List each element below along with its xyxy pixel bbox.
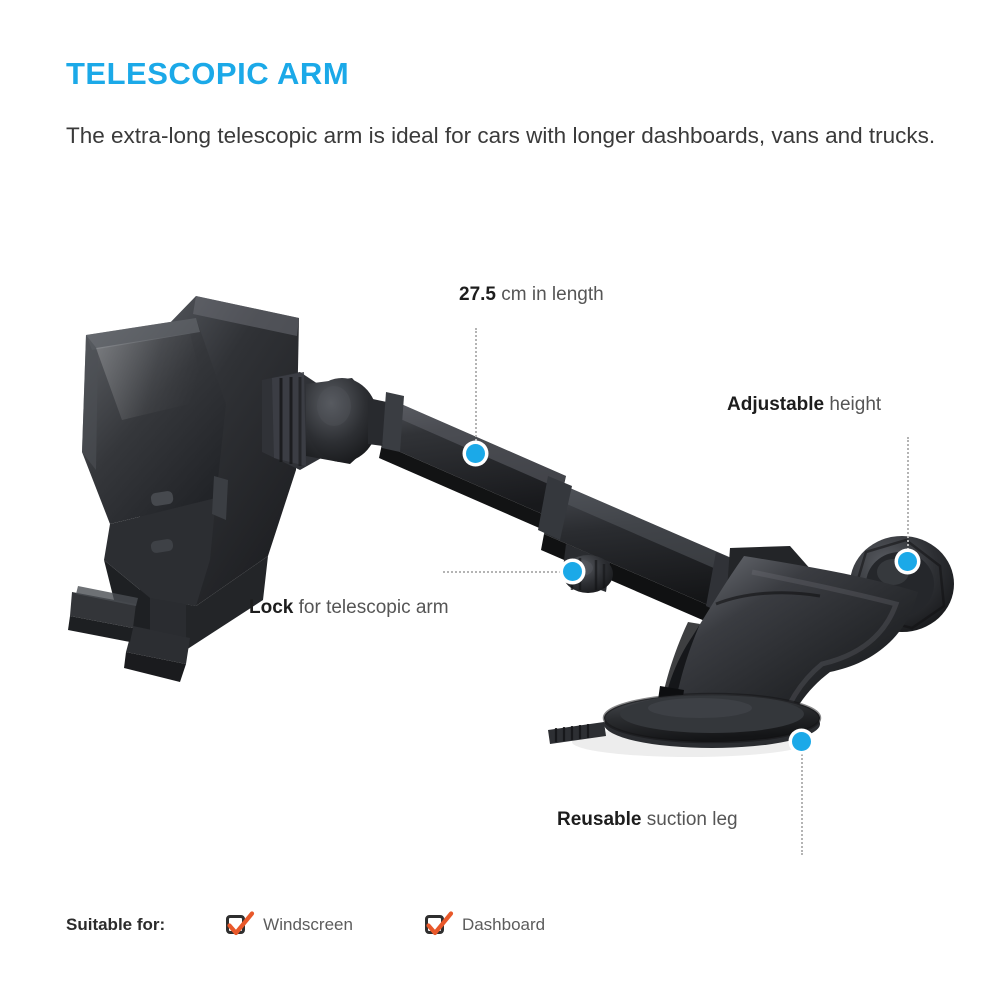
callout-label-lock: Lock for telescopic arm: [249, 598, 449, 617]
leader-line-suction: [801, 751, 803, 855]
marker-dot-suction: [792, 732, 811, 751]
checkbox-checked-icon[interactable]: [226, 912, 252, 938]
telescopic-arm: [379, 392, 744, 628]
marker-dot-height: [898, 552, 917, 571]
suitable-item-dashboard[interactable]: Dashboard: [425, 912, 545, 938]
marker-dot-length: [466, 444, 485, 463]
callout-height-rest: height: [824, 394, 881, 415]
checkbox-checked-icon[interactable]: [425, 912, 451, 938]
suction-cup-base: [548, 694, 820, 748]
page-description: The extra-long telescopic arm is ideal f…: [66, 120, 966, 152]
suitable-item-label: Windscreen: [263, 915, 353, 935]
leader-line-height: [907, 437, 909, 553]
suction-release-tab: [548, 722, 606, 744]
callout-suction-rest: suction leg: [641, 809, 737, 830]
pivot-knob: [726, 536, 954, 634]
suitable-item-windscreen[interactable]: Windscreen: [226, 912, 353, 938]
callout-label-length: 27.5 cm in length: [459, 285, 604, 304]
suitable-for-label: Suitable for:: [66, 915, 165, 935]
callout-lock-rest: for telescopic arm: [293, 597, 448, 618]
cradle-chin: [68, 586, 190, 682]
infographic-page: TELESCOPIC ARM The extra-long telescopic…: [0, 0, 1000, 1000]
callout-length-bold: 27.5: [459, 284, 496, 305]
callout-suction-bold: Reusable: [557, 809, 641, 830]
phone-cradle: [68, 296, 299, 682]
callout-label-suction: Reusable suction leg: [557, 810, 738, 829]
suitable-item-label: Dashboard: [462, 915, 545, 935]
swan-neck-pedestal: [658, 556, 918, 740]
suitable-for-row: Suitable for: Windscreen Dashboard: [66, 912, 545, 938]
callout-height-bold: Adjustable: [727, 394, 824, 415]
marker-dot-lock: [563, 562, 582, 581]
callout-label-height: Adjustable height: [727, 395, 881, 414]
ball-joint: [262, 372, 398, 470]
page-title: TELESCOPIC ARM: [66, 58, 349, 89]
leader-line-length: [475, 328, 477, 444]
leader-line-lock: [443, 571, 565, 573]
callout-lock-bold: Lock: [249, 597, 293, 618]
callout-length-rest: cm in length: [496, 284, 604, 305]
